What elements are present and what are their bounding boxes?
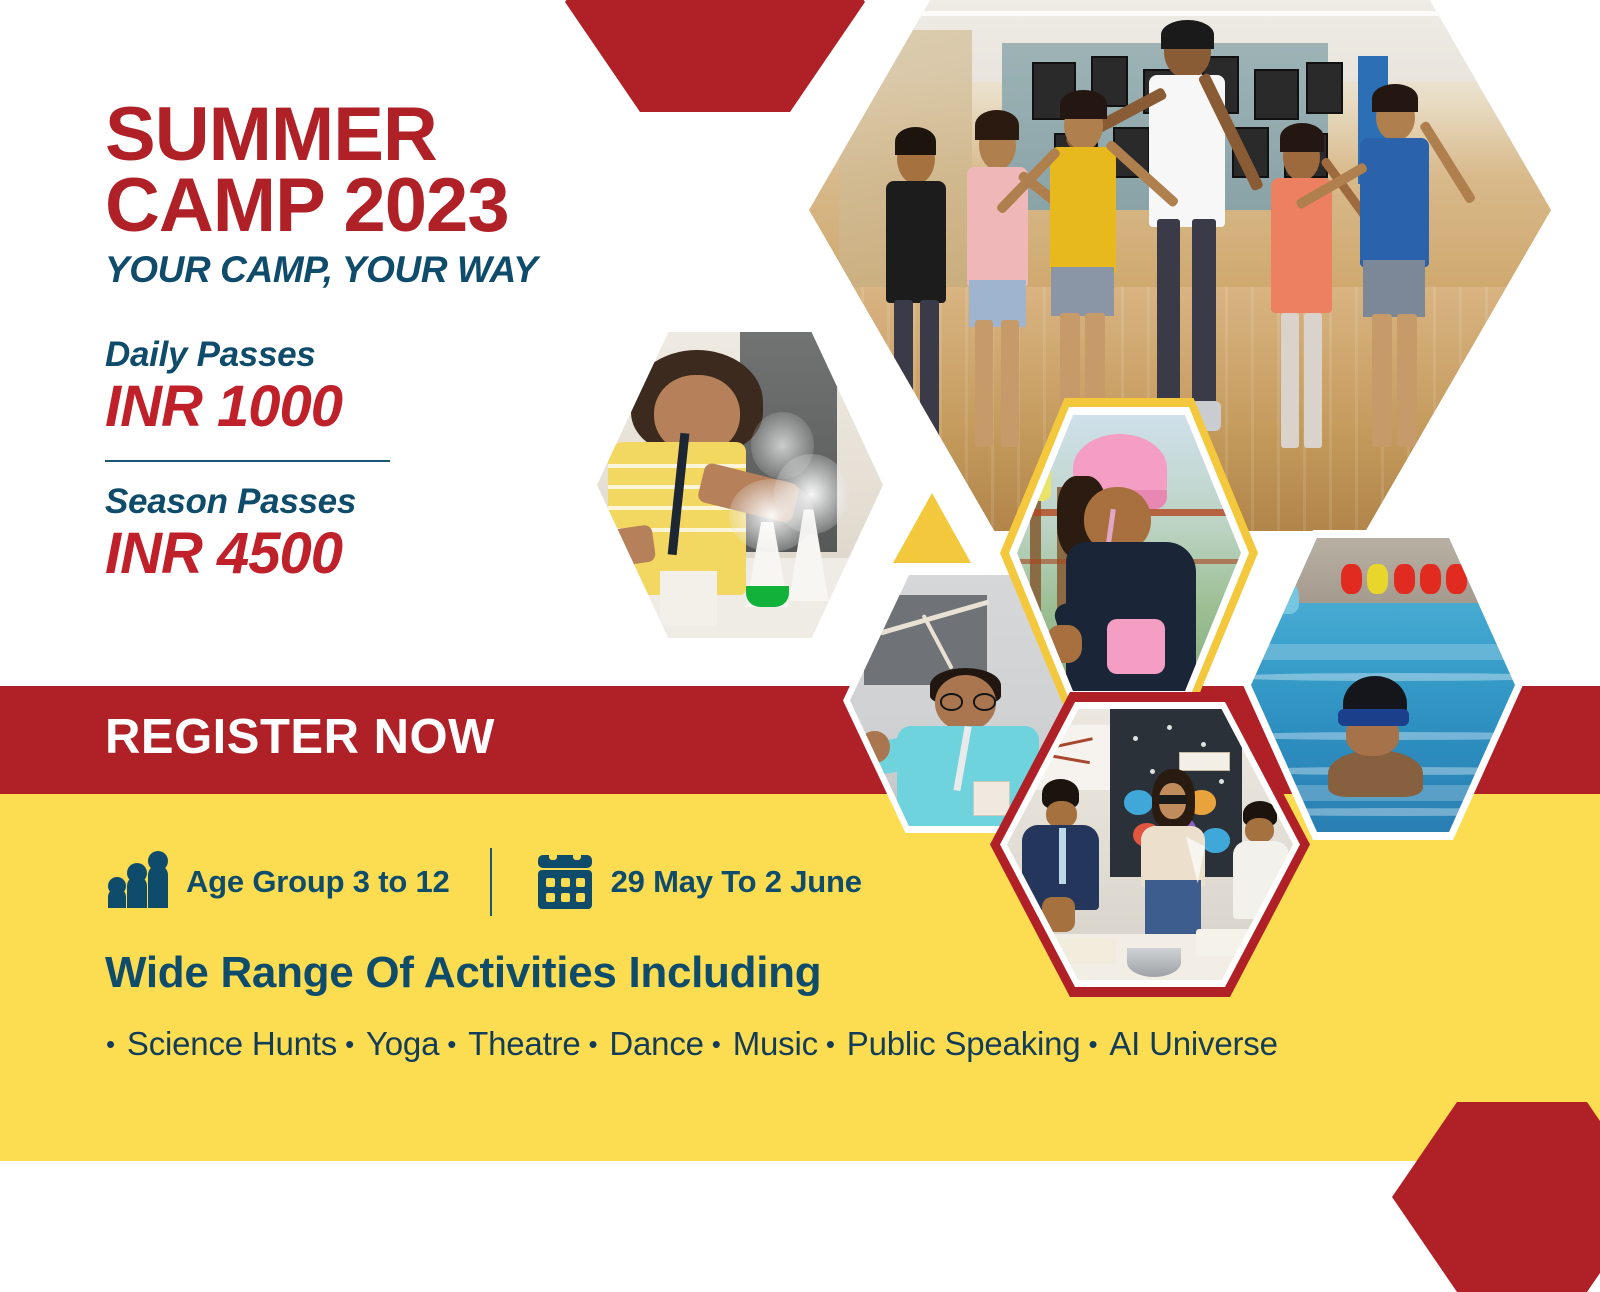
activity-item: •Yoga: [337, 1025, 439, 1063]
info-row: Age Group 3 to 12 29 May To 2 June: [105, 848, 862, 916]
season-pass-label: Season Passes: [105, 482, 665, 522]
activity-label: Dance: [609, 1025, 703, 1063]
dates-text: 29 May To 2 June: [611, 864, 862, 900]
activity-item: •Music: [704, 1025, 818, 1063]
dates-item: 29 May To 2 June: [534, 851, 862, 914]
top-red-hexagon-accent: [565, 0, 865, 112]
age-group-item: Age Group 3 to 12: [105, 851, 450, 914]
season-pass-row: Season Passes INR 4500: [105, 482, 665, 585]
bullet-icon: •: [345, 1031, 354, 1057]
activity-label: Public Speaking: [847, 1025, 1081, 1063]
title-line-2: CAMP 2023: [105, 171, 665, 242]
activity-item: •Theatre: [439, 1025, 580, 1063]
activity-item: •AI Universe: [1080, 1025, 1277, 1063]
bullet-icon: •: [712, 1031, 721, 1057]
activities-heading: Wide Range Of Activities Including: [105, 948, 821, 998]
pricing-block: Daily Passes INR 1000 Season Passes INR …: [105, 335, 665, 585]
daily-pass-label: Daily Passes: [105, 335, 665, 375]
season-pass-price: INR 4500: [105, 524, 665, 585]
headline-block: SUMMER CAMP 2023 YOUR CAMP, YOUR WAY Dai…: [105, 100, 665, 585]
bullet-icon: •: [1088, 1031, 1097, 1057]
activities-list: •Science Hunts•Yoga•Theatre•Dance•Music•…: [98, 1025, 1278, 1063]
yellow-triangle-accent: [893, 493, 971, 563]
activity-label: Science Hunts: [127, 1025, 337, 1063]
title-line-1: SUMMER: [105, 100, 665, 171]
activity-label: Yoga: [366, 1025, 439, 1063]
activity-label: Theatre: [468, 1025, 580, 1063]
people-icon: [105, 851, 171, 914]
info-divider: [490, 848, 492, 916]
bullet-icon: •: [588, 1031, 597, 1057]
page-subtitle: YOUR CAMP, YOUR WAY: [105, 249, 665, 291]
age-group-text: Age Group 3 to 12: [186, 864, 450, 900]
bullet-icon: •: [826, 1031, 835, 1057]
price-divider: [105, 460, 390, 462]
daily-pass-price: INR 1000: [105, 377, 665, 438]
daily-pass-row: Daily Passes INR 1000: [105, 335, 665, 438]
activity-label: AI Universe: [1109, 1025, 1277, 1063]
register-now-button[interactable]: REGISTER NOW: [105, 709, 495, 765]
activity-item: •Dance: [580, 1025, 703, 1063]
bullet-icon: •: [106, 1031, 115, 1057]
calendar-icon: [534, 851, 596, 914]
activity-label: Music: [733, 1025, 818, 1063]
bullet-icon: •: [447, 1031, 456, 1057]
activity-item: •Public Speaking: [818, 1025, 1081, 1063]
activity-item: •Science Hunts: [98, 1025, 337, 1063]
page-title: SUMMER CAMP 2023: [105, 100, 665, 241]
